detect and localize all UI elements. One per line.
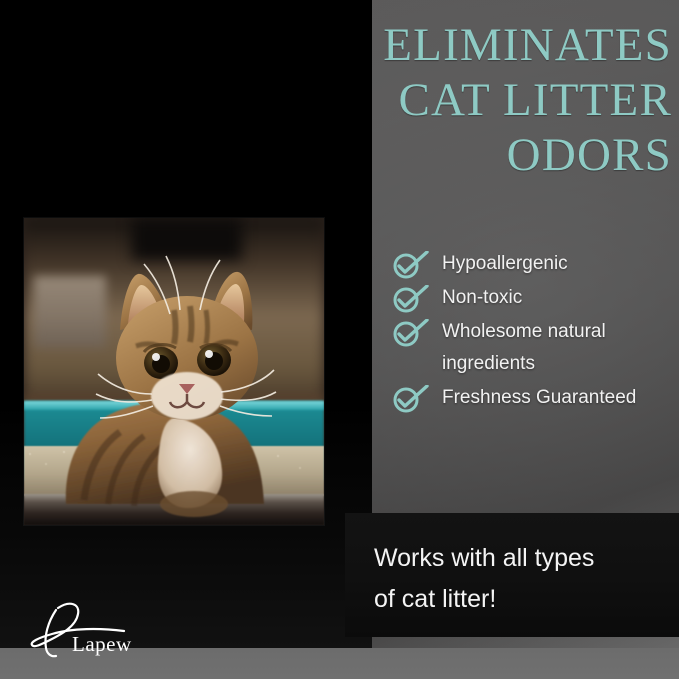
benefit-item: Wholesome natural ingredients xyxy=(390,316,675,380)
headline-line-2: CAT LITTER xyxy=(300,73,672,128)
benefit-label: Hypoallergenic xyxy=(442,248,675,280)
brand-name: Lapew xyxy=(72,633,132,655)
headline: ELIMINATES CAT LITTER ODORS xyxy=(300,18,672,183)
check-circle-icon xyxy=(390,285,430,313)
benefit-item: Non-toxic xyxy=(390,282,675,314)
benefit-label: Freshness Guaranteed xyxy=(442,382,675,414)
callout-line-2: of cat litter! xyxy=(374,579,664,620)
check-circle-icon xyxy=(390,251,430,279)
brand-logo: Lapew xyxy=(28,598,168,660)
benefit-label: Wholesome natural ingredients xyxy=(442,316,675,380)
benefit-item: Hypoallergenic xyxy=(390,248,675,280)
headline-line-3: ODORS xyxy=(300,128,672,183)
check-circle-icon xyxy=(390,385,430,413)
kitten-illustration xyxy=(24,218,324,525)
headline-line-1: ELIMINATES xyxy=(300,18,672,73)
benefits-list: Hypoallergenic Non-toxic Wholesome natur… xyxy=(390,248,675,416)
kitten-litter-box-photo xyxy=(24,218,324,525)
callout-line-1: Works with all types xyxy=(374,538,664,579)
callout-box: Works with all types of cat litter! xyxy=(345,513,679,637)
callout-text: Works with all types of cat litter! xyxy=(374,538,664,620)
check-circle-icon xyxy=(390,319,430,347)
benefit-item: Freshness Guaranteed xyxy=(390,382,675,414)
product-advertisement: ELIMINATES CAT LITTER ODORS xyxy=(0,0,679,679)
benefit-label: Non-toxic xyxy=(442,282,675,314)
